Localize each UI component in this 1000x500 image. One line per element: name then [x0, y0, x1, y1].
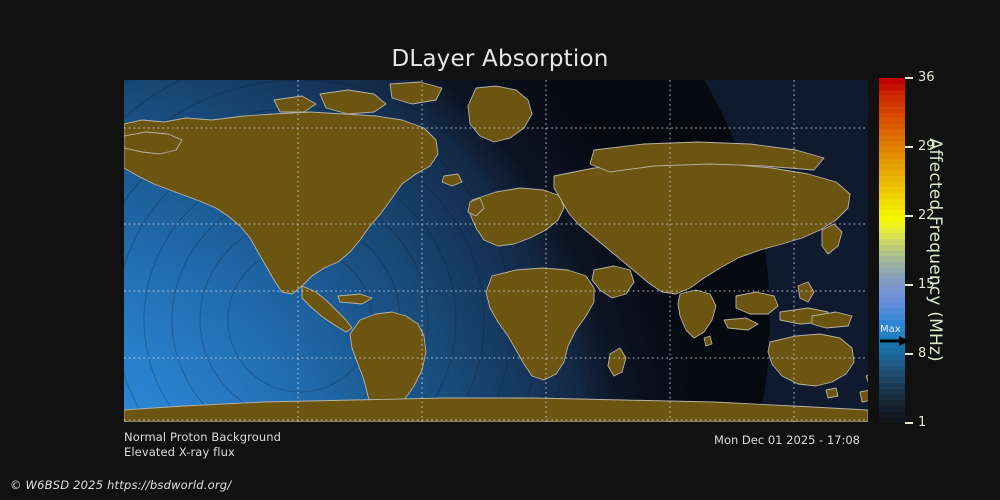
- colorbar-tick-dash: [905, 353, 913, 355]
- world-map[interactable]: [124, 80, 868, 422]
- status-xray-flux: Elevated X-ray flux: [124, 445, 235, 459]
- copyright-notice: © W6BSD 2025 https://bsdworld.org/: [10, 478, 231, 492]
- colorbar-tick-dash: [905, 215, 913, 217]
- colorbar-max-marker: Max: [879, 324, 913, 350]
- colorbar-max-label: Max: [880, 324, 901, 335]
- colorbar-tick-dash: [905, 77, 913, 79]
- colorbar-band: [879, 417, 905, 423]
- max-arrow-icon: [879, 335, 911, 348]
- colorbar[interactable]: [879, 78, 905, 423]
- page-title: DLayer Absorption: [0, 46, 1000, 72]
- map-canvas: [124, 80, 868, 422]
- timestamp: Mon Dec 01 2025 - 17:08: [714, 433, 860, 447]
- app-root: DLayer Absorption: [0, 0, 1000, 500]
- status-proton-background: Normal Proton Background: [124, 430, 281, 444]
- colorbar-tick-dash: [905, 284, 913, 286]
- colorbar-axis-label: Affected Frequency (MHz): [919, 70, 945, 430]
- colorbar-tick-dash: [905, 146, 913, 148]
- colorbar-tick-dash: [905, 422, 913, 424]
